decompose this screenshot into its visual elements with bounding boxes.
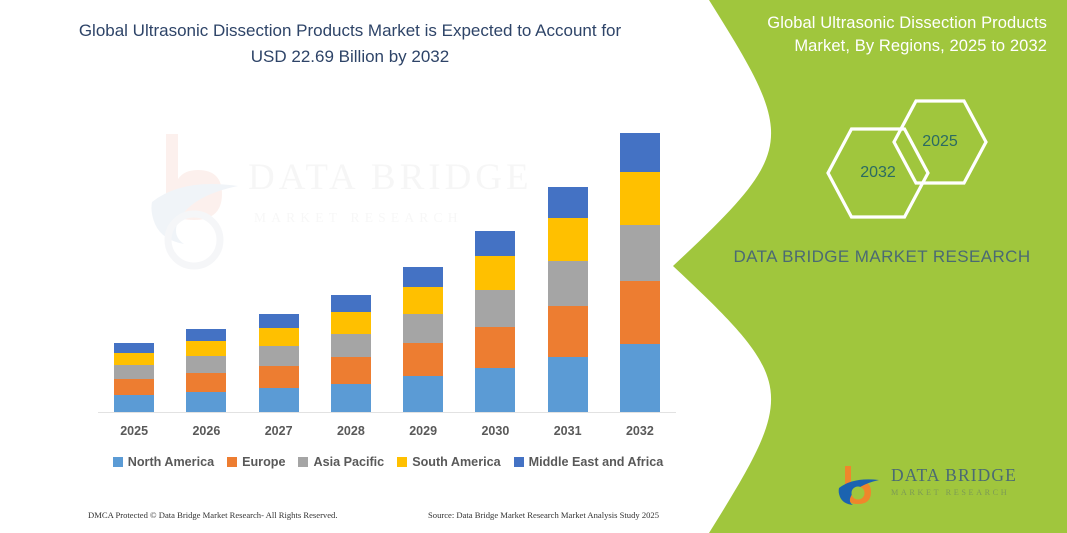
x-axis-labels: 20252026202720282029203020312032: [98, 424, 676, 446]
bar-segment: [475, 368, 515, 413]
bar-segment: [475, 231, 515, 257]
regions-panel: Global Ultrasonic Dissection Products Ma…: [667, 0, 1067, 533]
bar-segment: [259, 328, 299, 346]
bar-segment: [186, 356, 226, 373]
bar-segment: [548, 357, 588, 413]
bar-column: [620, 133, 660, 414]
bar-segment: [403, 343, 443, 376]
x-axis-label: 2027: [243, 424, 315, 438]
bar-segment: [620, 281, 660, 344]
bar-column: [114, 343, 154, 413]
bar-segment: [548, 218, 588, 260]
bar-column: [548, 187, 588, 413]
bar-segment: [331, 295, 371, 312]
legend-item[interactable]: Asia Pacific: [298, 455, 384, 469]
x-axis-label: 2030: [459, 424, 531, 438]
bar-segment: [548, 261, 588, 306]
footer-source: Source: Data Bridge Market Research Mark…: [428, 510, 659, 520]
bar-segment: [403, 267, 443, 288]
bar-segment: [259, 314, 299, 328]
bar-segment: [620, 344, 660, 413]
year-hexagons: 2032 2025: [787, 98, 1057, 213]
bar-segment: [620, 172, 660, 225]
bar-segment: [475, 290, 515, 327]
bar-segment: [114, 395, 154, 413]
bar-column: [186, 329, 226, 413]
bar-segment: [475, 327, 515, 368]
company-logo: DATA BRIDGE MARKET RESEARCH: [835, 460, 1050, 516]
bar-segment: [403, 287, 443, 314]
bar-segment: [186, 341, 226, 356]
hexagon-start-year: 2025: [891, 98, 989, 186]
logo-wordmark: DATA BRIDGE MARKET RESEARCH: [891, 466, 1017, 497]
bar-segment: [331, 357, 371, 383]
legend-label: Europe: [242, 455, 285, 469]
bar-column: [403, 267, 443, 413]
x-axis-label: 2025: [98, 424, 170, 438]
legend-item[interactable]: Europe: [227, 455, 285, 469]
bar-segment: [114, 379, 154, 395]
bar-segment: [403, 314, 443, 343]
legend-label: Asia Pacific: [313, 455, 384, 469]
legend-label: South America: [412, 455, 500, 469]
bar-segment: [114, 365, 154, 379]
legend-item[interactable]: Middle East and Africa: [514, 455, 664, 469]
legend-swatch: [113, 457, 123, 467]
x-axis-line: [98, 412, 676, 413]
bar-segment: [186, 329, 226, 341]
bar-segment: [331, 312, 371, 334]
legend-swatch: [397, 457, 407, 467]
legend-item[interactable]: South America: [397, 455, 500, 469]
x-axis-label: 2029: [387, 424, 459, 438]
x-axis-label: 2026: [170, 424, 242, 438]
legend-swatch: [227, 457, 237, 467]
chart-area: Global Ultrasonic Dissection Products Ma…: [0, 0, 700, 533]
bar-segment: [186, 373, 226, 392]
bar-column: [331, 295, 371, 413]
legend-label: North America: [128, 455, 214, 469]
bar-segment: [114, 353, 154, 365]
legend-swatch: [298, 457, 308, 467]
bar-segment: [331, 384, 371, 413]
legend-item[interactable]: North America: [113, 455, 214, 469]
page-title: Global Ultrasonic Dissection Products Ma…: [60, 18, 640, 69]
bar-segment: [403, 376, 443, 413]
bar-segment: [620, 225, 660, 281]
panel-title: Global Ultrasonic Dissection Products Ma…: [727, 12, 1047, 59]
bar-segment: [259, 366, 299, 388]
bar-column: [259, 314, 299, 413]
chart-legend: North AmericaEuropeAsia PacificSouth Ame…: [98, 455, 678, 469]
bar-segment: [114, 343, 154, 353]
bar-segment: [259, 346, 299, 366]
footer: DMCA Protected © Data Bridge Market Rese…: [0, 505, 700, 529]
hexagon-start-year-label: 2025: [891, 98, 989, 186]
footer-copyright: DMCA Protected © Data Bridge Market Rese…: [88, 510, 338, 520]
brand-name: DATA BRIDGE MARKET RESEARCH: [717, 245, 1047, 270]
legend-swatch: [514, 457, 524, 467]
x-axis-label: 2031: [532, 424, 604, 438]
bar-segment: [620, 133, 660, 173]
logo-wordmark-main: DATA BRIDGE: [891, 466, 1017, 485]
bar-segment: [548, 187, 588, 218]
bar-segment: [259, 388, 299, 413]
stacked-bar-chart: [98, 120, 676, 413]
bar-segment: [186, 392, 226, 413]
bar-segment: [548, 306, 588, 357]
bar-column: [475, 231, 515, 413]
x-axis-label: 2028: [315, 424, 387, 438]
data-bridge-logo-mark: [835, 462, 883, 510]
bar-segment: [475, 256, 515, 290]
logo-wordmark-sub: MARKET RESEARCH: [891, 488, 1017, 497]
bar-segment: [331, 334, 371, 357]
x-axis-label: 2032: [604, 424, 676, 438]
legend-label: Middle East and Africa: [529, 455, 664, 469]
